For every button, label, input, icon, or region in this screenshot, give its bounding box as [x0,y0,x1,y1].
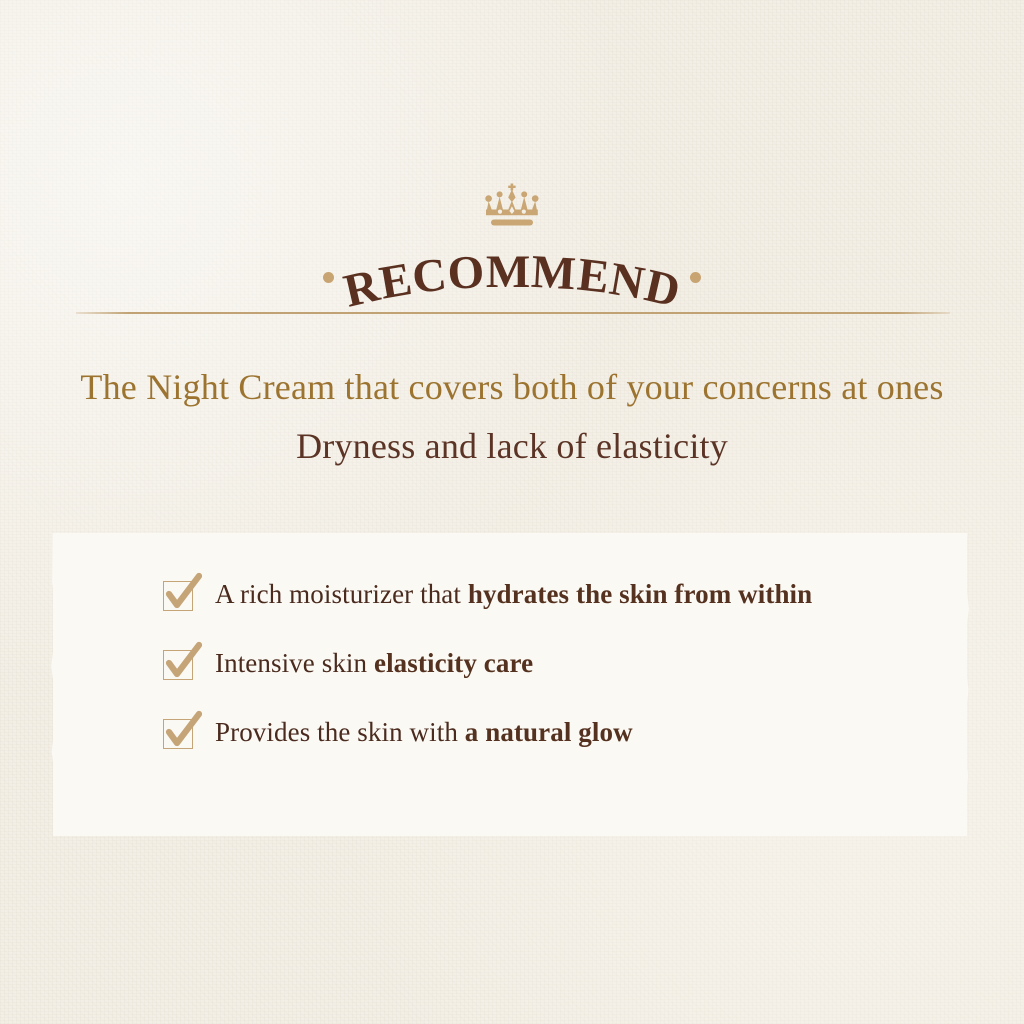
title-char: M [486,249,530,296]
title-char: M [530,249,577,298]
list-item-text-normal: Provides the skin with [215,717,465,747]
list-item-label: Intensive skin elasticity care [215,648,533,679]
check-mark-icon [158,710,202,754]
list-item-text-bold: elasticity care [374,648,533,678]
page-title: RECOMMEND [350,232,674,296]
list-item-label: A rich moisturizer that hydrates the ski… [215,579,812,610]
title-char: C [410,251,449,302]
crown-icon [484,183,540,229]
decorative-dot-left-icon [323,272,334,283]
checkbox-checked-icon [158,572,202,616]
list-item-text-normal: Intensive skin [215,648,374,678]
headline: The Night Cream that covers both of your… [0,366,1024,467]
recommend-banner: RECOMMEND The Night Cream that covers bo… [0,0,1024,1024]
list-item: Intensive skin elasticity care [158,641,533,685]
title-char: O [447,249,486,298]
divider [76,312,950,314]
checkbox-checked-icon [158,641,202,685]
list-item: Provides the skin with a natural glow [158,710,633,754]
list-item-label: Provides the skin with a natural glow [215,717,633,748]
list-item: A rich moisturizer that hydrates the ski… [158,572,812,616]
section-title-row: RECOMMEND [0,232,1024,296]
title-char: D [640,262,684,315]
title-char: E [376,256,415,308]
crown-icon-container [0,183,1024,229]
list-item-text-bold: a natural glow [465,717,633,747]
title-char: E [575,252,611,302]
headline-line-1: The Night Cream that covers both of your… [0,366,1024,408]
benefits-card: A rich moisturizer that hydrates the ski… [53,533,967,836]
list-item-text-normal: A rich moisturizer that [215,579,468,609]
decorative-dot-right-icon [690,272,701,283]
check-mark-icon [158,572,202,616]
checkbox-checked-icon [158,710,202,754]
headline-line-2: Dryness and lack of elasticity [0,425,1024,467]
list-item-text-bold: hydrates the skin from within [468,579,812,609]
check-mark-icon [158,641,202,685]
